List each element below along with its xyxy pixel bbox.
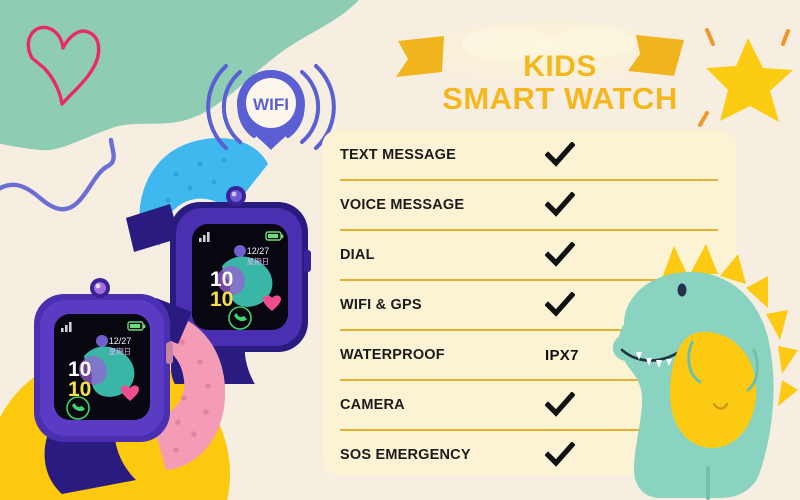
check-icon (545, 442, 575, 468)
feature-label: SOS EMERGENCY (340, 447, 471, 463)
title-line-2: SMART WATCH (400, 83, 720, 115)
feature-value-text: IPX7 (545, 347, 579, 364)
feature-value (545, 142, 575, 168)
feature-value (545, 442, 575, 468)
watch-weekday-pink: 星期日 (109, 347, 132, 356)
check-icon (545, 392, 575, 418)
feature-label: VOICE MESSAGE (340, 197, 464, 213)
feature-value (545, 392, 575, 418)
smartwatch-pink: 12/27 星期日 10 10 (6, 250, 236, 500)
wifi-label: WIFI (253, 95, 289, 114)
page-title: KIDS SMART WATCH (400, 52, 720, 114)
feature-row[interactable]: VOICE MESSAGE (340, 181, 718, 231)
feature-row[interactable]: TEXT MESSAGE (340, 130, 718, 181)
feature-label: DIAL (340, 247, 375, 263)
dino-eye (678, 284, 687, 297)
feature-value (545, 292, 575, 318)
feature-value (545, 192, 575, 218)
feature-value (545, 242, 575, 268)
feature-label: CAMERA (340, 397, 405, 413)
check-icon (545, 192, 575, 218)
purple-squiggle (0, 140, 114, 209)
feature-value: IPX7 (545, 347, 579, 364)
title-line-1: KIDS (400, 52, 720, 83)
check-icon (545, 142, 575, 168)
advertisement-canvas: KIDS SMART WATCH WIFI (0, 0, 800, 500)
check-icon (545, 242, 575, 268)
watch-weekday-blue: 星期日 (247, 257, 270, 266)
check-icon (545, 292, 575, 318)
feature-label: TEXT MESSAGE (340, 147, 456, 163)
feature-label: WIFI & GPS (340, 297, 422, 313)
dinosaur-mascot (608, 232, 800, 500)
watch-date-blue: 12/27 (247, 246, 270, 256)
watch-date-pink: 12/27 (109, 336, 132, 346)
feature-label: WATERPROOF (340, 347, 445, 363)
